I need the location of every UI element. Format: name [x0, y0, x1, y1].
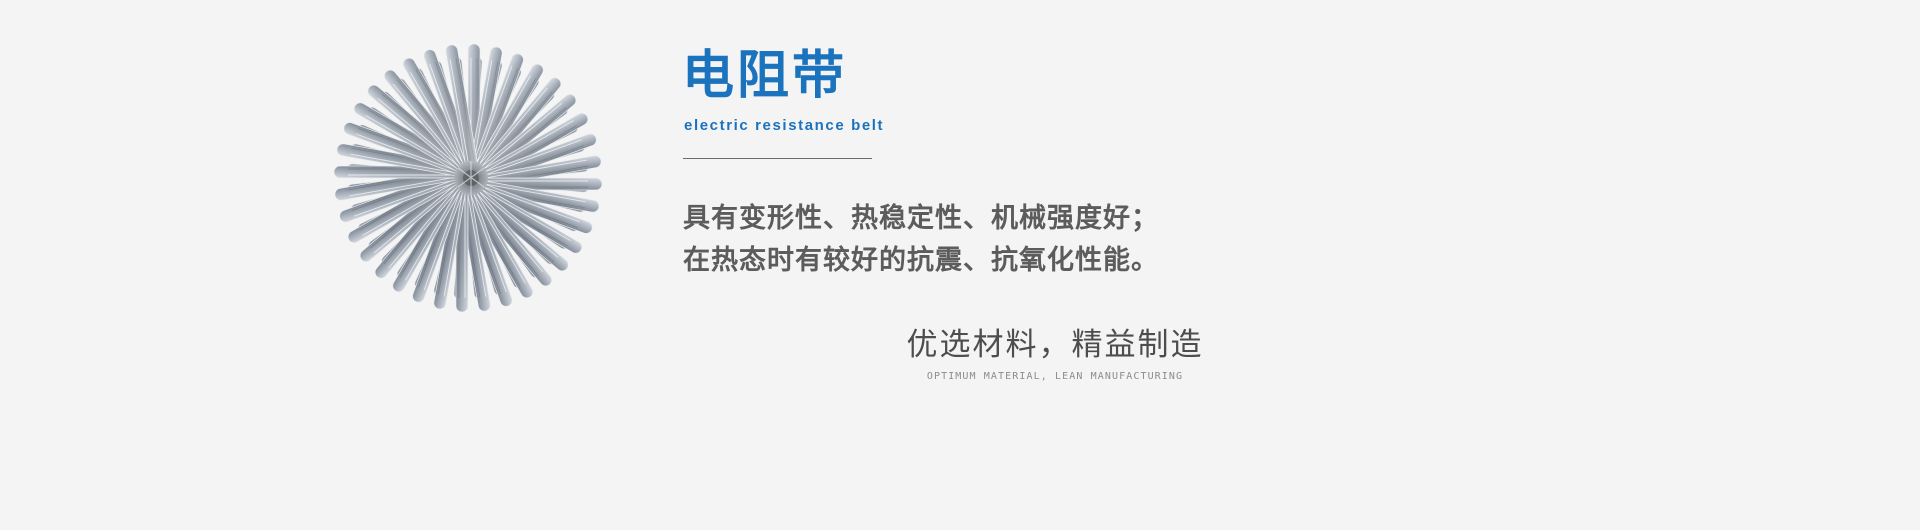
slogan-english: OPTIMUM MATERIAL, LEAN MANUFACTURING — [775, 369, 1335, 385]
slogan-block: 优选材料，精益制造 OPTIMUM MATERIAL, LEAN MANUFAC… — [775, 325, 1335, 385]
page-subtitle: electric resistance belt — [684, 115, 1382, 137]
slogan-chinese: 优选材料，精益制造 — [775, 325, 1335, 365]
description-line-1: 具有变形性、热稳定性、机械强度好； — [683, 198, 1382, 240]
title-divider — [683, 158, 872, 159]
product-image — [296, 38, 656, 363]
banner-content: 电阻带 electric resistance belt 具有变形性、热稳定性、… — [682, 46, 1382, 282]
description-line-2: 在热态时有较好的抗震、抗氧化性能。 — [683, 240, 1382, 282]
description-block: 具有变形性、热稳定性、机械强度好； 在热态时有较好的抗震、抗氧化性能。 — [683, 198, 1382, 282]
resistance-belt-burst-icon — [296, 38, 656, 363]
product-banner: 电阻带 electric resistance belt 具有变形性、热稳定性、… — [0, 0, 1920, 530]
page-title: 电阻带 — [682, 46, 1382, 106]
